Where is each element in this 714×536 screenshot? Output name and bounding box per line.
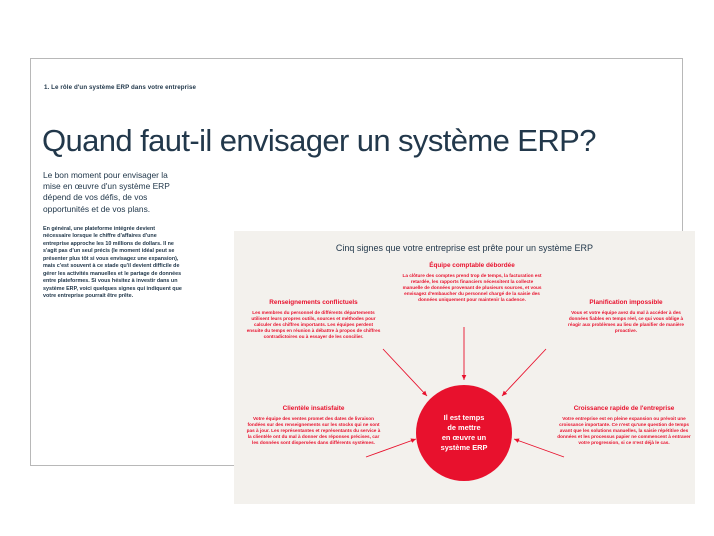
callout-equipe-comptable-debordee[interactable]: Équipe comptable débordée La clôture des… [402,262,542,303]
callout-body: Les membres du personnel de différents d… [246,310,381,340]
page-title: Quand faut-il envisager un système ERP? [42,123,596,159]
callout-body: Votre équipe des ventes promet des dates… [246,416,381,446]
left-text-column: Le bon moment pour envisager la mise en … [43,170,183,301]
callout-clientele-insatisfaite[interactable]: Clientèle insatisfaite Votre équipe des … [246,405,381,446]
callout-title: Équipe comptable débordée [402,262,542,270]
callout-planification-impossible[interactable]: Planification impossible Vous et votre é… [562,299,690,334]
callout-title: Renseignements conflictuels [246,299,381,307]
diagram-title: Cinq signes que votre entreprise est prê… [234,243,695,253]
callout-croissance-rapide-de-lentreprise[interactable]: Croissance rapide de l'entreprise Votre … [554,405,694,446]
callout-renseignements-conflictuels[interactable]: Renseignements conflictuels Les membres … [246,299,381,340]
breadcrumb: 1. Le rôle d'un système ERP dans votre e… [44,84,196,91]
callout-title: Clientèle insatisfaite [246,405,381,413]
callout-title: Croissance rapide de l'entreprise [554,405,694,413]
center-node-label: Il est temps de mettre en œuvre un systè… [435,413,494,453]
center-node-circle[interactable]: Il est temps de mettre en œuvre un systè… [416,385,512,481]
callout-body: Votre entreprise est en pleine expansion… [554,416,694,446]
callout-body: Vous et votre équipe avez du mal à accéd… [562,310,690,334]
intro-lead-paragraph: Le bon moment pour envisager la mise en … [43,170,183,215]
intro-body-paragraph: En général, une plateforme intégrée devi… [43,226,183,301]
diagram-panel: Cinq signes que votre entreprise est prê… [234,231,695,504]
callout-title: Planification impossible [562,299,690,307]
callout-body: La clôture des comptes prend trop de tem… [402,273,542,303]
